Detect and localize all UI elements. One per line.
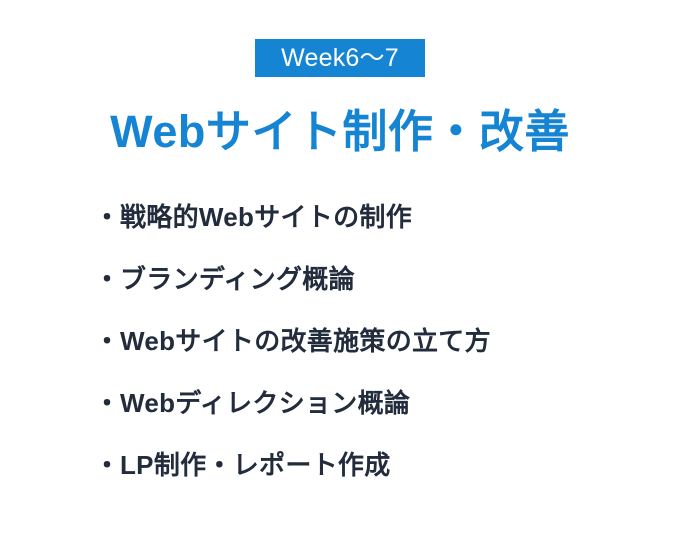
bullet-dot-icon: ・: [94, 444, 120, 486]
bullet-dot-icon: ・: [94, 320, 120, 362]
list-item-label: Webサイトの改善施策の立て方: [120, 320, 491, 362]
list-item-label: Webディレクション概論: [120, 382, 410, 424]
bullet-dot-icon: ・: [94, 196, 120, 238]
list-item: ・ Webディレクション概論: [94, 382, 654, 444]
page-title: Webサイト制作・改善: [0, 103, 680, 161]
bullet-dot-icon: ・: [94, 258, 120, 300]
badge-row: Week6〜7: [0, 39, 680, 77]
week-range-badge: Week6〜7: [255, 39, 425, 77]
list-item: ・ 戦略的Webサイトの制作: [94, 196, 654, 258]
list-item-label: LP制作・レポート作成: [120, 444, 391, 486]
list-item-label: 戦略的Webサイトの制作: [120, 196, 412, 238]
bullet-dot-icon: ・: [94, 382, 120, 424]
list-item-label: ブランディング概論: [120, 258, 355, 300]
course-week-card: Week6〜7 Webサイト制作・改善 ・ 戦略的Webサイトの制作 ・ ブラン…: [0, 0, 680, 538]
list-item: ・ ブランディング概論: [94, 258, 654, 320]
list-item: ・ Webサイトの改善施策の立て方: [94, 320, 654, 382]
list-item: ・ LP制作・レポート作成: [94, 444, 654, 506]
curriculum-list: ・ 戦略的Webサイトの制作 ・ ブランディング概論 ・ Webサイトの改善施策…: [94, 196, 654, 506]
